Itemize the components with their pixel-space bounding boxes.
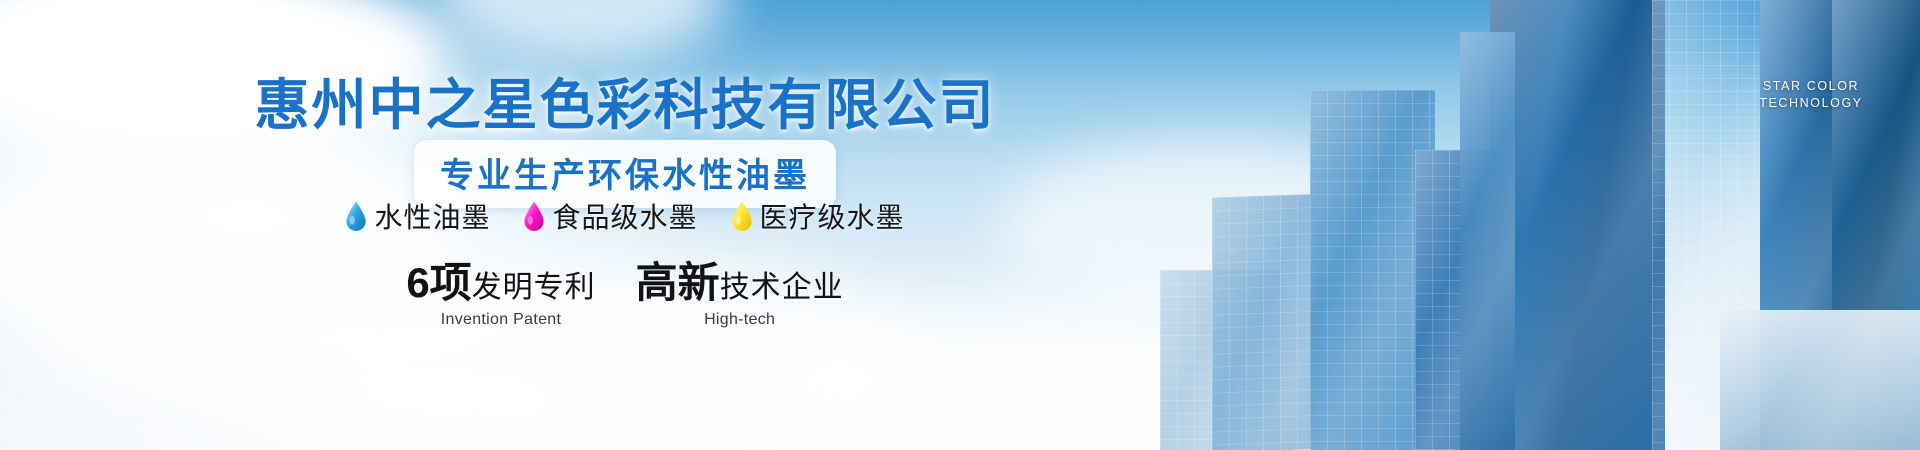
- building-tower-main: [1490, 0, 1665, 450]
- building-foreground: [1720, 310, 1920, 450]
- water-drop-icon: [731, 201, 753, 231]
- banner-content: 惠州中之星色彩科技有限公司 专业生产环保水性油墨 水性油墨: [0, 0, 1250, 450]
- badge-highlight: 6项: [406, 259, 471, 306]
- feature-item: 水性油墨: [345, 196, 490, 236]
- badge-english-label: High-tech: [636, 311, 844, 329]
- badge-suffix: 技术企业: [720, 271, 844, 304]
- building-brand-label: STAR COLOR TECHNOLOGY: [1736, 78, 1886, 112]
- building: [1460, 32, 1515, 450]
- badge-invention-patent: 6项发明专利 Invention Patent: [406, 262, 595, 329]
- badge-highlight: 高新: [636, 259, 720, 306]
- company-title: 惠州中之星色彩科技有限公司: [0, 60, 1250, 140]
- feature-item: 食品级水墨: [523, 196, 697, 236]
- promo-banner: Star Color: [0, 0, 1920, 450]
- badge-suffix: 发明专利: [472, 271, 596, 304]
- badge-main-text: 高新技术企业: [636, 262, 844, 304]
- feature-label: 食品级水墨: [552, 196, 697, 236]
- feature-label: 水性油墨: [374, 196, 490, 236]
- badge-main-text: 6项发明专利: [406, 262, 595, 304]
- building-brand-line1: STAR COLOR: [1736, 78, 1886, 95]
- water-drop-icon: [523, 201, 545, 231]
- feature-label: 医疗级水墨: [760, 196, 905, 236]
- badge-high-tech: 高新技术企业 High-tech: [636, 262, 844, 329]
- building-brand-line2: TECHNOLOGY: [1736, 95, 1886, 112]
- badge-english-label: Invention Patent: [406, 311, 595, 329]
- water-drop-icon: [345, 201, 367, 231]
- credential-badges: 6项发明专利 Invention Patent 高新技术企业 High-tech: [0, 262, 1250, 329]
- feature-list: 水性油墨 食品级水墨: [0, 196, 1250, 236]
- feature-item: 医疗级水墨: [731, 196, 905, 236]
- city-skyline-image: STAR COLOR TECHNOLOGY: [1160, 0, 1920, 450]
